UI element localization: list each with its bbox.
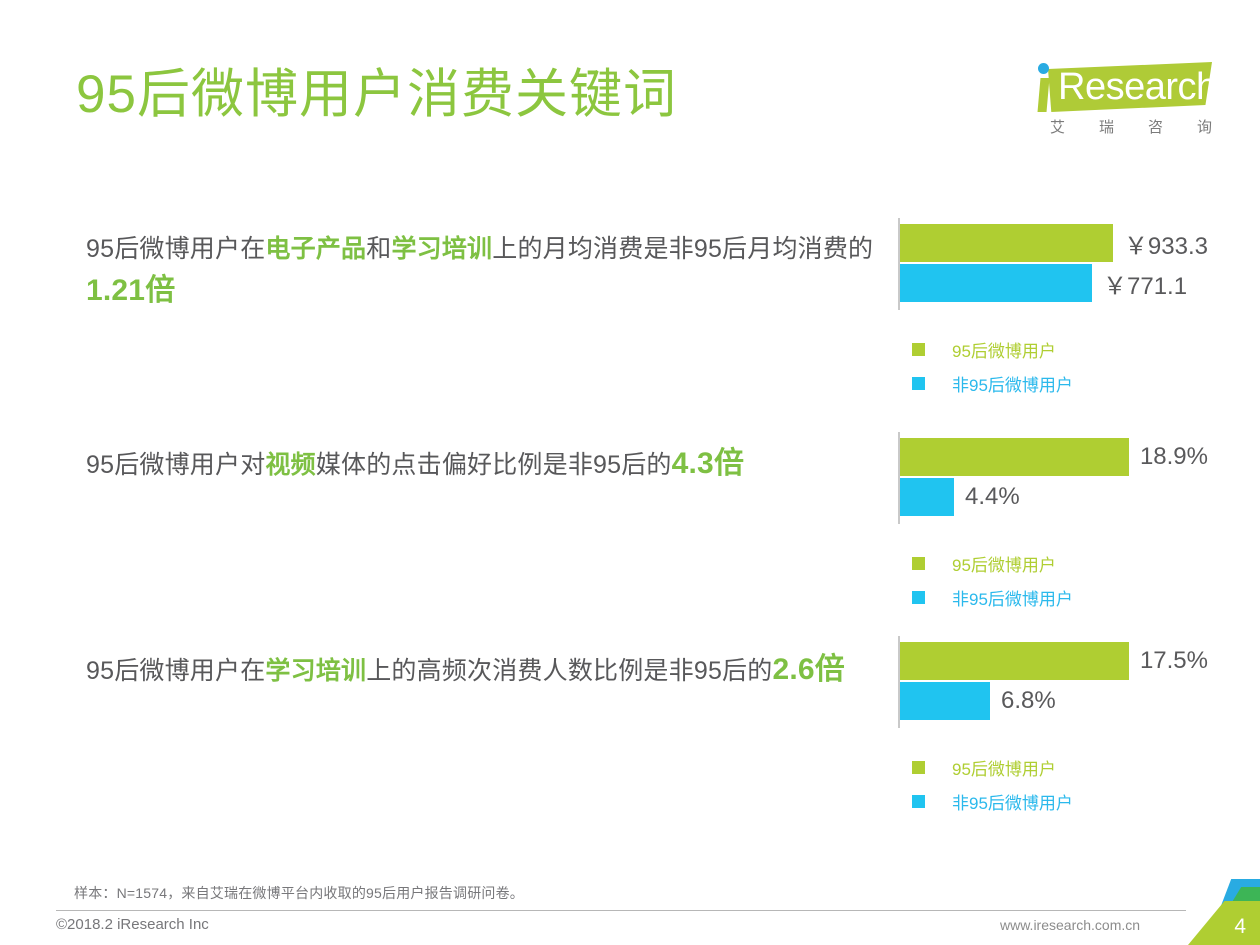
logo-sub-char-1: 艾 xyxy=(1050,116,1065,137)
bar-value-label: ￥933.3 xyxy=(1124,226,1208,261)
logo-wordmark: Research xyxy=(1058,65,1217,109)
legend-swatch-icon xyxy=(912,795,925,808)
statement-fragment-1: 学习培训 xyxy=(265,657,366,685)
bar-row: ￥933.3 xyxy=(900,224,1208,262)
bar-green xyxy=(900,224,1113,262)
statement-fragment-3: 4.3倍 xyxy=(672,447,745,480)
statement-fragment-3: 学习培训 xyxy=(391,235,492,263)
statement-text-3: 95后微博用户在学习培训上的高频次消费人数比例是非95后的2.6倍 xyxy=(86,644,876,697)
bar-row: ￥771.1 xyxy=(900,264,1208,302)
logo-subtitle: 艾 瑞 咨 询 xyxy=(1050,116,1212,137)
legend-swatch-icon xyxy=(912,761,925,774)
statement-fragment-0: 95后微博用户在 xyxy=(86,235,265,263)
page-title: 95后微博用户消费关键词 xyxy=(76,64,677,126)
statement-fragment-5: 1.21倍 xyxy=(86,274,175,307)
footer-url[interactable]: www.iresearch.com.cn xyxy=(1000,917,1140,933)
chart-legend-3: 95后微博用户非95后微博用户 xyxy=(912,750,1208,818)
statement-fragment-4: 上的月均消费是非95后月均消费的 xyxy=(492,235,873,263)
bar-blue xyxy=(900,478,954,516)
legend-swatch-icon xyxy=(912,343,925,356)
slide-header: 95后微博用户消费关键词 Research 艾 瑞 咨 询 xyxy=(0,0,1260,175)
legend-swatch-icon xyxy=(912,377,925,390)
statement-fragment-2: 媒体的点击偏好比例是非95后的 xyxy=(316,451,672,479)
bar-row: 18.9% xyxy=(900,438,1208,476)
legend-label: 非95后微博用户 xyxy=(952,371,1073,396)
legend-item: 非95后微博用户 xyxy=(912,784,1208,818)
legend-item: 非95后微博用户 xyxy=(912,580,1208,614)
legend-item: 95后微博用户 xyxy=(912,750,1208,784)
bar-chart-3: 17.5%6.8% 95后微博用户非95后微博用户 xyxy=(898,636,1208,818)
legend-label: 非95后微博用户 xyxy=(952,585,1073,610)
legend-item: 95后微博用户 xyxy=(912,332,1208,366)
legend-swatch-icon xyxy=(912,557,925,570)
statement-fragment-2: 和 xyxy=(366,235,391,263)
logo-i-stem-icon xyxy=(1038,78,1050,112)
legend-swatch-icon xyxy=(912,591,925,604)
bar-chart-1: ￥933.3￥771.1 95后微博用户非95后微博用户 xyxy=(898,218,1208,400)
plot-area-2: 18.9%4.4% xyxy=(898,432,1208,524)
footer-copyright: ©2018.2 iResearch Inc xyxy=(56,916,209,933)
legend-item: 95后微博用户 xyxy=(912,546,1208,580)
plot-area-3: 17.5%6.8% xyxy=(898,636,1208,728)
bar-value-label: ￥771.1 xyxy=(1103,266,1187,301)
bar-value-label: 6.8% xyxy=(1001,687,1056,715)
statement-fragment-0: 95后微博用户在 xyxy=(86,657,265,685)
statement-block-3: 95后微博用户在学习培训上的高频次消费人数比例是非95后的2.6倍 xyxy=(86,644,876,697)
bar-blue xyxy=(900,264,1092,302)
logo-i-dot-icon xyxy=(1038,63,1049,74)
logo-sub-char-2: 瑞 xyxy=(1099,116,1114,137)
bar-value-label: 4.4% xyxy=(965,483,1020,511)
legend-label: 95后微博用户 xyxy=(952,755,1056,780)
legend-label: 95后微博用户 xyxy=(952,551,1056,576)
chart-legend-1: 95后微博用户非95后微博用户 xyxy=(912,332,1208,400)
chart-legend-2: 95后微博用户非95后微博用户 xyxy=(912,546,1208,614)
statement-fragment-3: 2.6倍 xyxy=(772,653,845,686)
bar-value-label: 18.9% xyxy=(1140,443,1208,471)
statement-fragment-1: 视频 xyxy=(265,451,315,479)
sample-note: 样本：N=1574，来自艾瑞在微博平台内收取的95后用户报告调研问卷。 xyxy=(74,883,524,903)
plot-area-1: ￥933.3￥771.1 xyxy=(898,218,1208,310)
bar-row: 6.8% xyxy=(900,682,1208,720)
bar-row: 17.5% xyxy=(900,642,1208,680)
iresearch-logo: Research 艾 瑞 咨 询 xyxy=(1032,58,1212,150)
statement-fragment-1: 电子产品 xyxy=(265,235,366,263)
corner-shape-green-light xyxy=(1188,901,1260,945)
footer-divider xyxy=(56,910,1186,911)
statement-text-1: 95后微博用户在电子产品和学习培训上的月均消费是非95后月均消费的1.21倍 xyxy=(86,228,876,313)
statement-text-2: 95后微博用户对视频媒体的点击偏好比例是非95后的4.3倍 xyxy=(86,444,886,485)
logo-sub-char-3: 咨 xyxy=(1148,116,1163,137)
page-number: 4 xyxy=(1234,915,1246,939)
bar-chart-2: 18.9%4.4% 95后微博用户非95后微博用户 xyxy=(898,432,1208,614)
logo-mark: Research xyxy=(1032,58,1212,116)
bar-green xyxy=(900,642,1129,680)
corner-decoration: 4 xyxy=(1170,879,1260,945)
statement-fragment-0: 95后微博用户对 xyxy=(86,451,265,479)
statement-block-1: 95后微博用户在电子产品和学习培训上的月均消费是非95后月均消费的1.21倍 xyxy=(86,228,876,313)
statement-block-2: 95后微博用户对视频媒体的点击偏好比例是非95后的4.3倍 xyxy=(86,444,886,485)
bar-row: 4.4% xyxy=(900,478,1208,516)
legend-item: 非95后微博用户 xyxy=(912,366,1208,400)
bar-value-label: 17.5% xyxy=(1140,647,1208,675)
bar-green xyxy=(900,438,1129,476)
bar-blue xyxy=(900,682,990,720)
legend-label: 95后微博用户 xyxy=(952,337,1056,362)
statement-fragment-2: 上的高频次消费人数比例是非95后的 xyxy=(366,657,772,685)
logo-sub-char-4: 询 xyxy=(1197,116,1212,137)
legend-label: 非95后微博用户 xyxy=(952,789,1073,814)
